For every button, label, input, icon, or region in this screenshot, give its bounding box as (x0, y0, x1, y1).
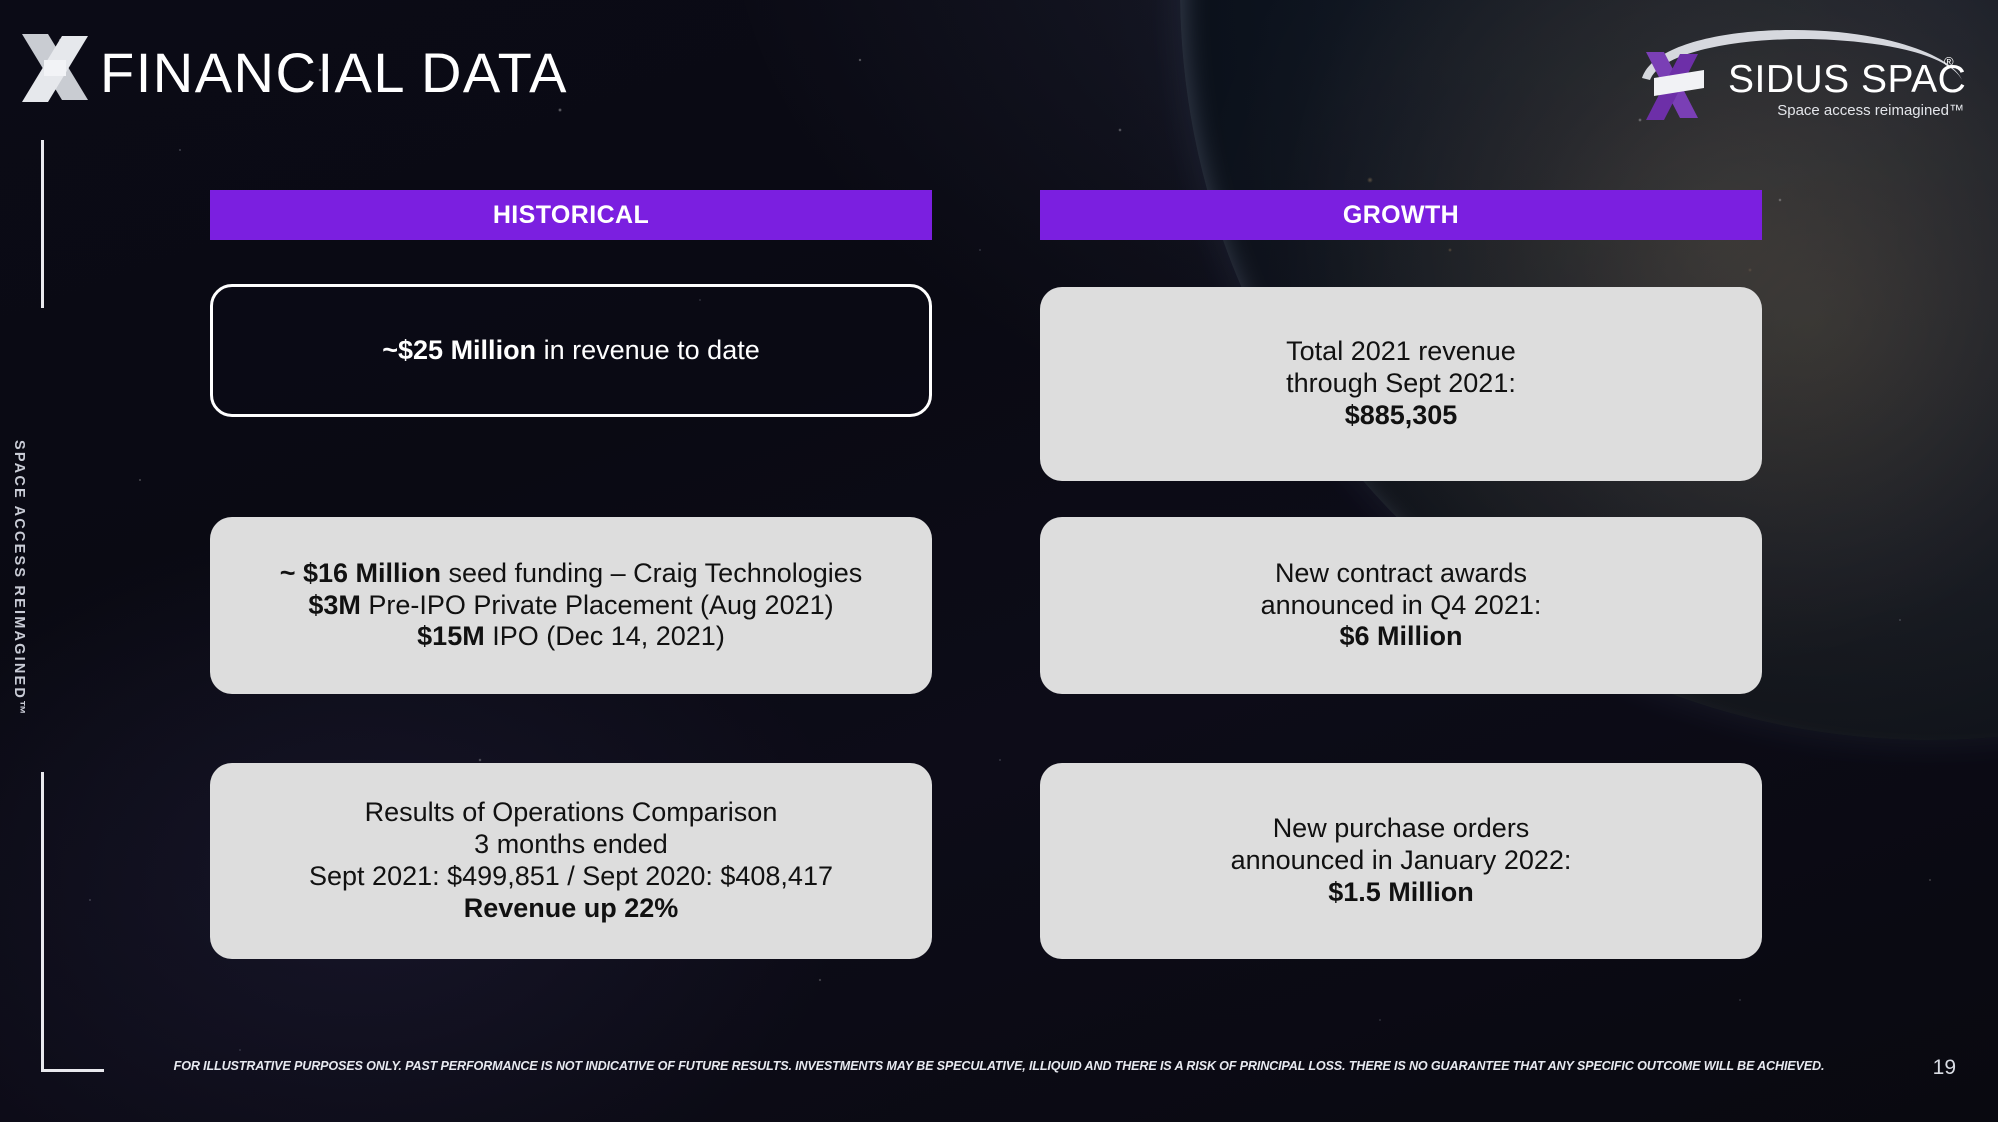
card-line-rest: seed funding – Craig Technologies (441, 558, 862, 588)
legal-disclaimer: FOR ILLUSTRATIVE PURPOSES ONLY. PAST PER… (0, 1059, 1998, 1073)
card-line: Results of Operations Comparison (365, 797, 778, 829)
left-rail-top (41, 140, 44, 308)
vertical-tagline: SPACE ACCESS REIMAGINED™ (11, 440, 27, 717)
column-header-growth: GROWTH (1040, 190, 1762, 240)
card-line: ~$25 Million in revenue to date (382, 335, 759, 367)
left-rail-bottom-vertical (41, 772, 44, 1072)
card-line-emphasis: ~$25 Million (382, 335, 536, 365)
card-line-emphasis: $15M (417, 621, 485, 651)
slide-financial-data: FINANCIAL DATA SIDUS SPACE ® Space acces… (0, 0, 1998, 1122)
card-line-rest: IPO (Dec 14, 2021) (485, 621, 725, 651)
card-line-rest: in revenue to date (536, 335, 760, 365)
card-line-emphasis: ~ $16 Million (280, 558, 441, 588)
card-line-highlight: $885,305 (1345, 400, 1458, 432)
sidus-x-mark-icon (18, 26, 92, 108)
card-line: Sept 2021: $499,851 / Sept 2020: $408,41… (309, 861, 833, 893)
brand-name-text: SIDUS SPACE (1728, 58, 1968, 101)
card-line-highlight: $6 Million (1339, 621, 1462, 653)
brand-logo[interactable]: SIDUS SPACE ® Space access reimagined™ (1628, 22, 1968, 126)
growth-card-2[interactable]: New contract awards announced in Q4 2021… (1040, 517, 1762, 694)
card-line: announced in January 2022: (1231, 845, 1572, 877)
card-line: 3 months ended (474, 829, 668, 861)
sidus-x-glyph-icon (1646, 52, 1704, 120)
card-line: New purchase orders (1273, 813, 1530, 845)
column-historical: HISTORICAL (210, 190, 932, 240)
page-title: FINANCIAL DATA (100, 40, 568, 105)
card-line: Total 2021 revenue (1286, 336, 1516, 368)
card-line: through Sept 2021: (1286, 368, 1516, 400)
card-line-highlight: Revenue up 22% (464, 893, 679, 925)
card-line: announced in Q4 2021: (1261, 590, 1542, 622)
growth-card-1[interactable]: Total 2021 revenue through Sept 2021: $8… (1040, 287, 1762, 481)
card-line-highlight: $1.5 Million (1328, 877, 1474, 909)
historical-card-3[interactable]: Results of Operations Comparison 3 month… (210, 763, 932, 959)
card-line: New contract awards (1275, 558, 1527, 590)
column-header-historical: HISTORICAL (210, 190, 932, 240)
card-line: $15M IPO (Dec 14, 2021) (417, 621, 725, 653)
brand-registered-mark: ® (1944, 54, 1954, 69)
card-line: ~ $16 Million seed funding – Craig Techn… (280, 558, 863, 590)
brand-tagline-text: Space access reimagined™ (1777, 102, 1964, 119)
historical-card-1[interactable]: ~$25 Million in revenue to date (210, 284, 932, 417)
column-growth: GROWTH (1040, 190, 1762, 240)
card-line-emphasis: $3M (308, 590, 361, 620)
historical-card-2[interactable]: ~ $16 Million seed funding – Craig Techn… (210, 517, 932, 694)
card-line-rest: Pre-IPO Private Placement (Aug 2021) (361, 590, 834, 620)
growth-card-3[interactable]: New purchase orders announced in January… (1040, 763, 1762, 959)
card-line: $3M Pre-IPO Private Placement (Aug 2021) (308, 590, 833, 622)
page-number: 19 (1933, 1056, 1956, 1080)
